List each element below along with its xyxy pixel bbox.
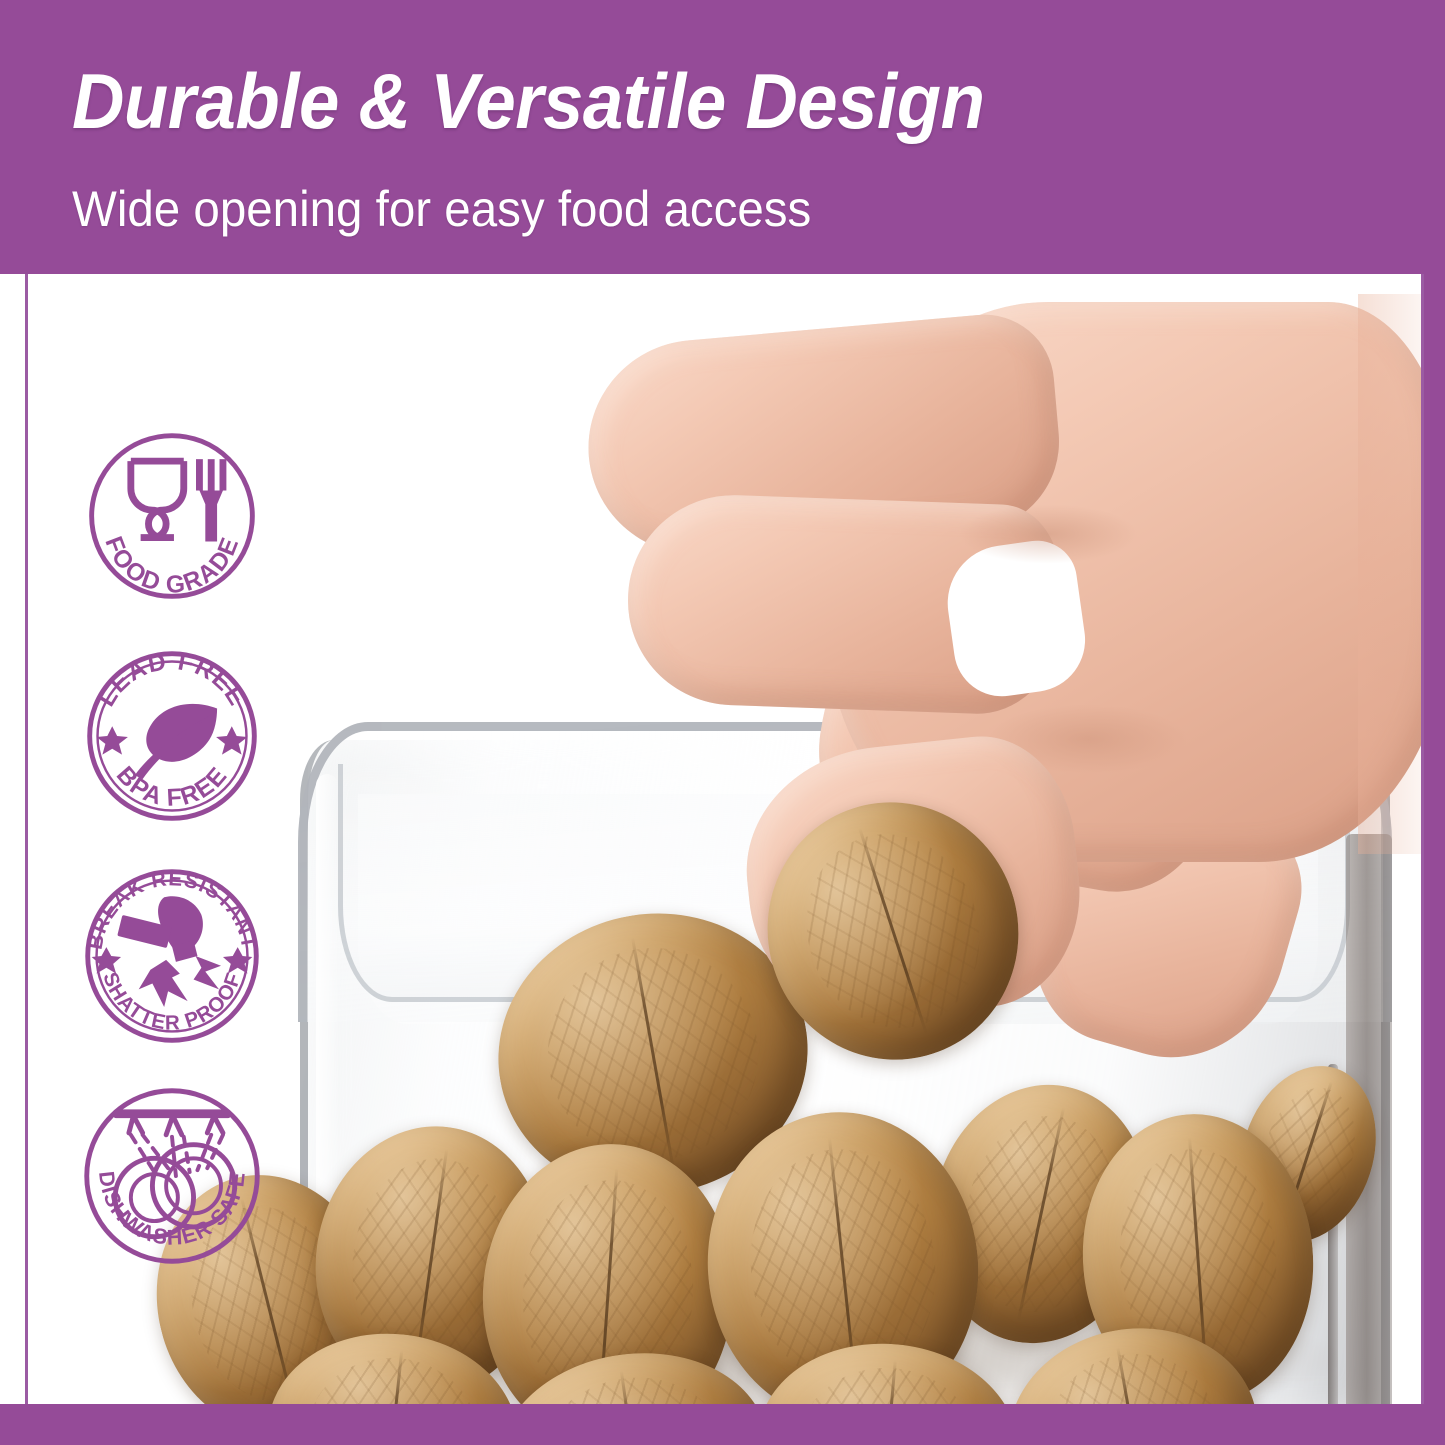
badge-dishwasher-safe: DISHWASHER SAFE — [74, 1078, 270, 1274]
badge-break-resistant-shatter-proof: BREAK RESISTANT SHATTER PROOF — [74, 858, 270, 1054]
page-subtitle: Wide opening for easy food access — [72, 184, 811, 234]
footer-banner — [0, 1404, 1445, 1445]
right-frame-rule — [1421, 274, 1424, 1404]
product-infographic-page: Durable & Versatile Design Wide opening … — [0, 0, 1445, 1445]
right-brand-band — [1424, 274, 1445, 1404]
hammer-and-shatter-icon — [117, 896, 221, 1007]
header-banner: Durable & Versatile Design Wide opening … — [0, 0, 1445, 274]
badge-label: FOOD GRADE — [99, 533, 244, 599]
badge-lead-free-bpa-free: LEAD FREE BPA FREE — [74, 638, 270, 834]
left-frame-rule — [25, 274, 28, 1404]
star-icon — [216, 726, 247, 754]
badge-food-grade: FOOD GRADE — [74, 418, 270, 614]
feature-badge-list: FOOD GRADE — [74, 418, 274, 1298]
star-icon — [97, 726, 128, 754]
page-title: Durable & Versatile Design — [72, 62, 984, 140]
badge-label-top: LEAD FREE — [93, 648, 251, 711]
knuckle-crease — [958, 504, 1138, 564]
wrist — [1358, 294, 1421, 854]
glass-and-fork-icon — [131, 459, 223, 541]
leaf-icon — [135, 704, 217, 779]
